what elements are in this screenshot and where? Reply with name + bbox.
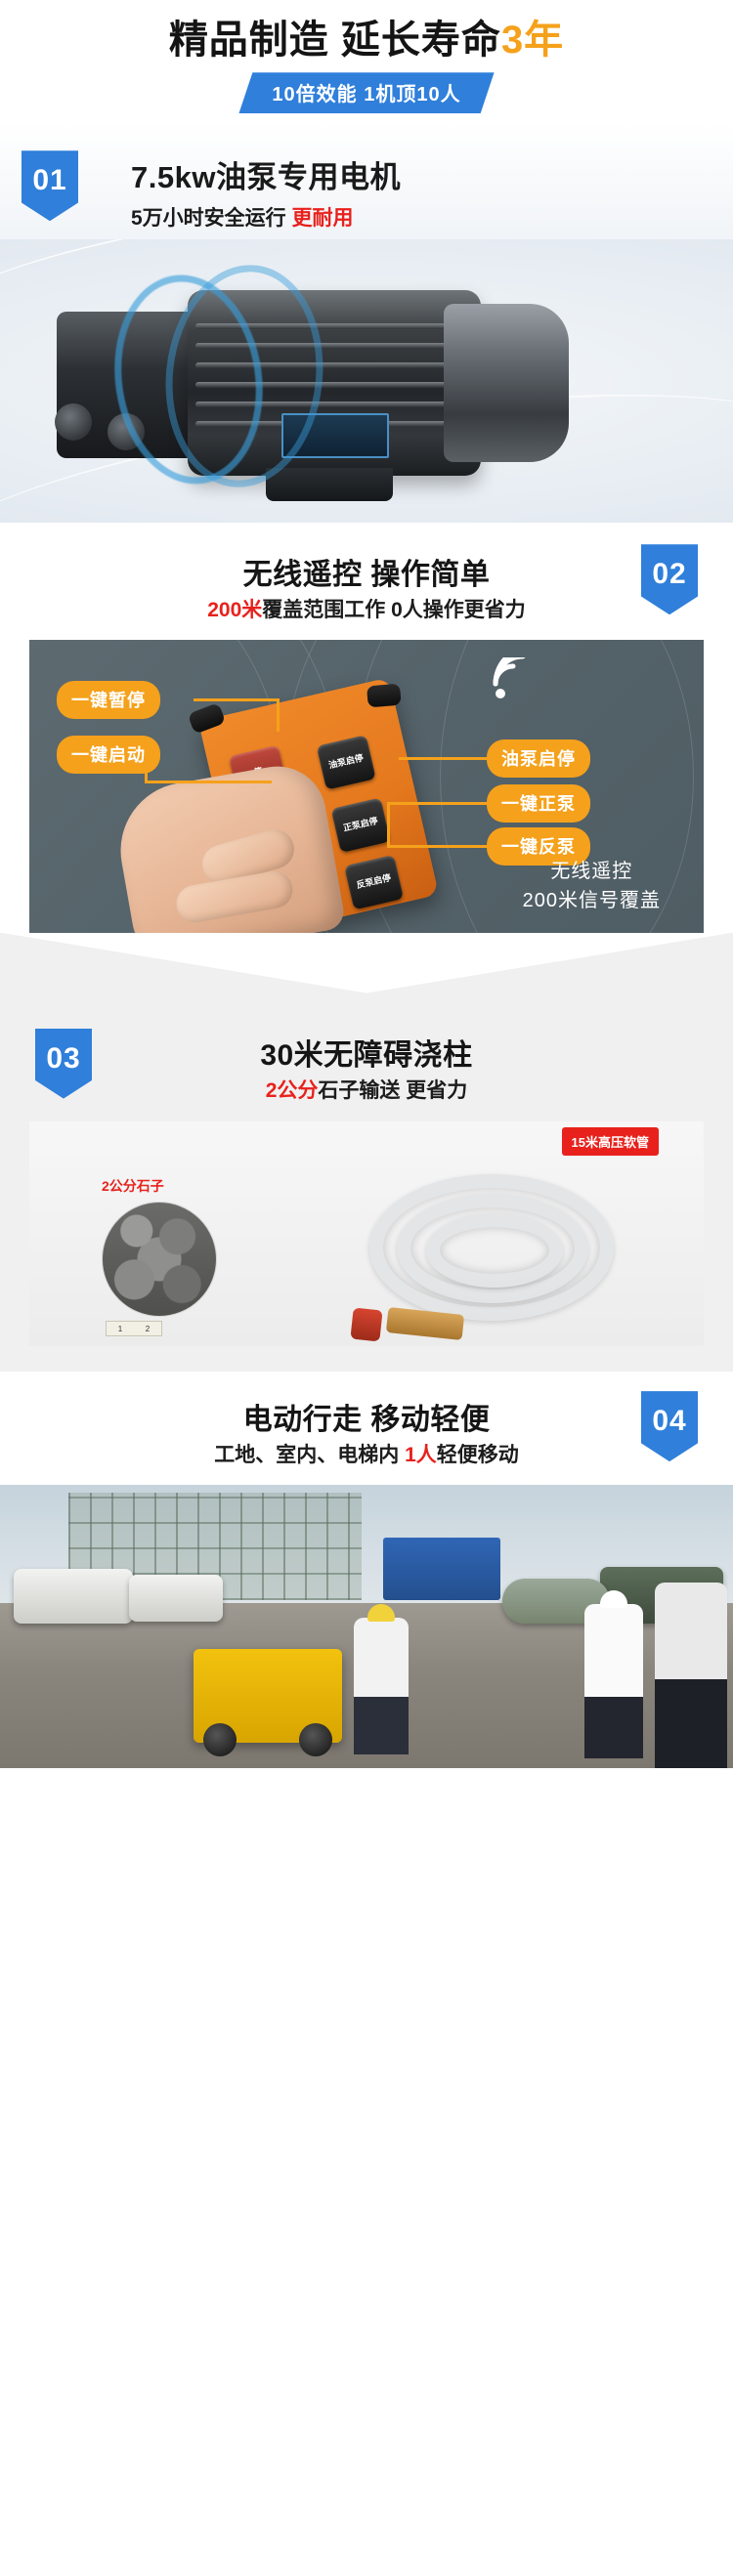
section-03-sub-highlight: 2公分 (266, 1079, 319, 1102)
section-01-title: 7.5kw油泵专用电机 (131, 152, 401, 196)
hero-banner-wrap: 10倍效能 1机顶10人 (0, 72, 733, 113)
section-01: 01 7.5kw油泵专用电机 5万小时安全运行 更耐用 (0, 123, 733, 523)
section-01-sub-highlight: 更耐用 (292, 207, 354, 230)
worksite-photo (0, 1485, 733, 1768)
section-04-head: 电动行走 移动轻便 工地、室内、电梯内 1人轻便移动 04 (0, 1401, 733, 1484)
machine-wheel (299, 1723, 332, 1756)
section-01-head: 01 7.5kw油泵专用电机 5万小时安全运行 更耐用 (0, 129, 733, 235)
section-02-title: 无线遥控 操作简单 (0, 556, 733, 594)
parked-car (129, 1575, 223, 1622)
callout-leader-line (387, 802, 487, 805)
section-04-title: 电动行走 移动轻便 (0, 1401, 733, 1439)
section-03: 03 30米无障碍浇柱 2公分石子输送 更省力 2公分石子 1 2 15米高压软… (0, 1027, 733, 1372)
callout-pump-toggle: 油泵启停 (487, 739, 590, 778)
ruler-mark-2: 2 (146, 1325, 150, 1333)
remote-antenna-nub (366, 683, 402, 707)
section-03-sub-plain: 石子输送 更省力 (318, 1079, 467, 1102)
ruler-mark-1: 1 (118, 1325, 122, 1333)
hose-illustration (336, 1149, 659, 1330)
section-04-sub-highlight: 1人 (405, 1444, 437, 1466)
worker-person (354, 1618, 409, 1754)
callout-leader-line (387, 845, 487, 848)
section-03-head: 03 30米无障碍浇柱 2公分石子输送 更省力 (0, 1036, 733, 1121)
stone-label: 2公分石子 (102, 1176, 164, 1196)
hose-coupling-red (350, 1308, 382, 1342)
site-notice-board (383, 1538, 500, 1600)
section-02-caption: 无线遥控 200米信号覆盖 (523, 857, 661, 915)
callout-leader-line (399, 757, 487, 760)
remote-key-forward[interactable]: 正泵启停 (331, 797, 391, 853)
section-01-subtitle: 5万小时安全运行 更耐用 (131, 202, 401, 232)
motor-front-cap (444, 304, 569, 462)
machine-wheel (203, 1723, 237, 1756)
caption-line-1: 无线遥控 (523, 857, 661, 886)
motor-foot (266, 468, 393, 501)
callout-leader-line (145, 781, 272, 783)
motor-flange (55, 403, 92, 441)
section-02-sub-highlight: 200米 (207, 599, 262, 621)
callout-leader-line (277, 698, 280, 732)
section-divider-wedge (0, 933, 733, 1027)
motor-photo (0, 239, 733, 523)
hose-coil (426, 1213, 563, 1288)
callout-start: 一键启动 (57, 736, 160, 774)
section-02-subtitle: 200米覆盖范围工作 0人操作更省力 (0, 596, 733, 625)
remote-control-photo: 停 油泵启停 启动 正泵启停 备用 反泵启停 一键暂停 一键启动 油 (29, 640, 704, 933)
hero-header: 精品制造 延长寿命3年 10倍效能 1机顶10人 (0, 0, 733, 123)
parked-car (14, 1569, 133, 1624)
section-02-sub-plain: 覆盖范围工作 0人操作更省力 (262, 599, 526, 621)
page-title: 精品制造 延长寿命3年 (0, 18, 733, 63)
section-03-title: 30米无障碍浇柱 (0, 1036, 733, 1075)
hero-banner: 10倍效能 1机顶10人 (238, 72, 494, 113)
callout-pause: 一键暂停 (57, 681, 160, 719)
remote-key-reverse[interactable]: 反泵启停 (344, 855, 404, 910)
callout-forward-pump: 一键正泵 (487, 784, 590, 823)
remote-key-pump-toggle[interactable]: 油泵启停 (317, 735, 376, 790)
section-01-badge: 01 (22, 150, 78, 221)
page-title-main: 精品制造 延长寿命 (169, 19, 501, 62)
worker-person (655, 1583, 727, 1768)
wifi-signal-icon (493, 657, 539, 700)
section-04-sub-plain-a: 工地、室内、电梯内 (214, 1444, 405, 1466)
section-03-subtitle: 2公分石子输送 更省力 (0, 1077, 733, 1106)
section-02: 无线遥控 操作简单 200米覆盖范围工作 0人操作更省力 02 (0, 523, 733, 1026)
hose-and-stone-photo: 2公分石子 1 2 15米高压软管 (29, 1121, 704, 1346)
section-01-sub-plain: 5万小时安全运行 (131, 207, 292, 230)
section-01-text: 7.5kw油泵专用电机 5万小时安全运行 更耐用 (131, 150, 401, 232)
section-04-subtitle: 工地、室内、电梯内 1人轻便移动 (0, 1441, 733, 1470)
page-title-accent: 3年 (501, 19, 564, 62)
concrete-pump-machine (194, 1649, 342, 1743)
section-02-head: 无线遥控 操作简单 200米覆盖范围工作 0人操作更省力 02 (0, 556, 733, 639)
ruler-scale: 1 2 (106, 1321, 162, 1336)
section-04: 电动行走 移动轻便 工地、室内、电梯内 1人轻便移动 04 (0, 1372, 733, 1767)
worker-person (584, 1604, 643, 1758)
stone-sample-image (102, 1202, 217, 1317)
callout-leader-line (387, 802, 390, 845)
section-04-sub-plain-b: 轻便移动 (437, 1444, 519, 1466)
product-detail-page: 精品制造 延长寿命3年 10倍效能 1机顶10人 01 7.5kw油泵专用电机 … (0, 0, 733, 1768)
callout-leader-line (194, 698, 280, 701)
caption-line-2: 200米信号覆盖 (523, 886, 661, 915)
